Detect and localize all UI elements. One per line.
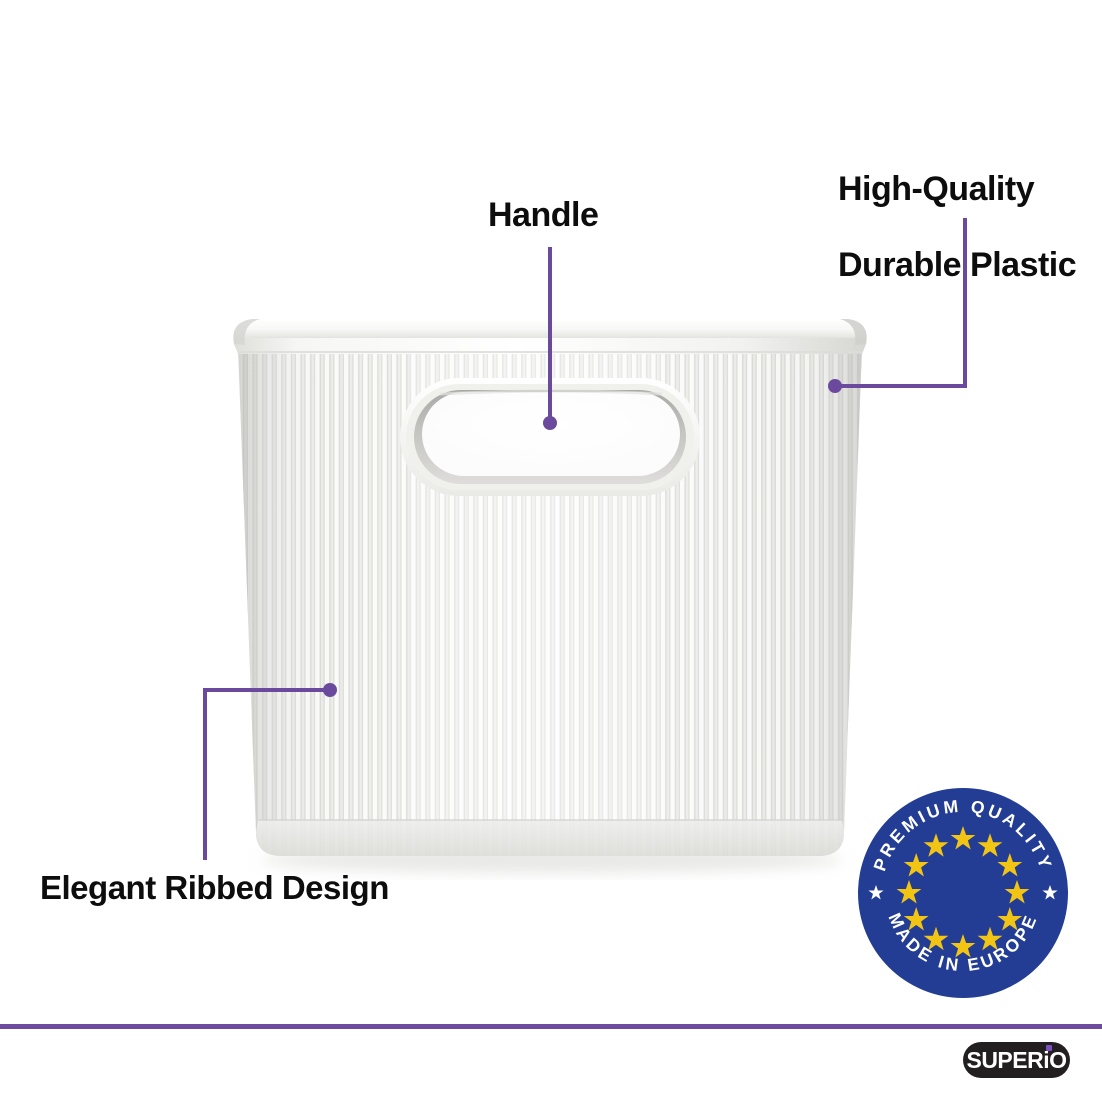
product-handle-cutout — [400, 378, 700, 496]
made-in-europe-badge: PREMIUM QUALITY MADE IN EUROPE — [858, 788, 1068, 998]
infographic-canvas: Handle High-Quality Durable Plastic Eleg… — [0, 0, 1102, 1102]
superio-logo-tittle-icon — [1046, 1045, 1052, 1051]
callout-label-durable-plastic-line1: High-Quality — [838, 170, 1076, 208]
footer-divider-rule — [0, 1024, 1102, 1029]
superio-brand-logo: SUPERiO — [963, 1042, 1070, 1078]
superio-logo-text: SUPERiO — [966, 1049, 1066, 1072]
product-image-storage-basket — [200, 300, 900, 880]
callout-label-handle: Handle — [488, 196, 598, 234]
callout-label-durable-plastic-line2: Durable Plastic — [838, 246, 1076, 284]
callout-label-ribbed-design: Elegant Ribbed Design — [40, 870, 389, 907]
callout-label-durable-plastic: High-Quality Durable Plastic — [838, 132, 1076, 322]
